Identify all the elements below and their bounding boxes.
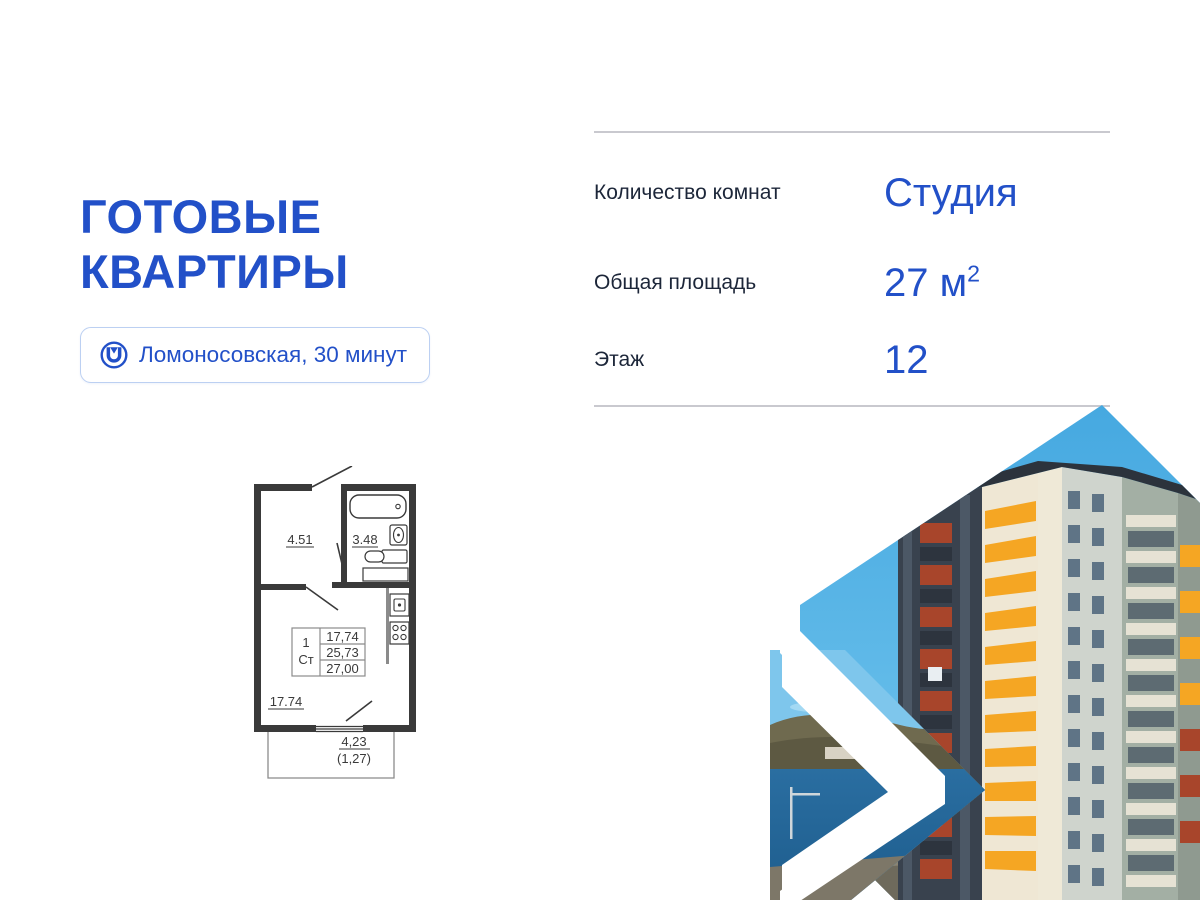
fp-legend-total-area: 27,00 [326,661,359,676]
metro-logo-icon [100,341,128,369]
spec-row-rooms: Количество комнат Студия [594,149,1110,237]
spec-value-rooms: Студия [884,173,1018,213]
metro-badge[interactable]: Ломоносовская, 30 минут [80,327,430,383]
headline-line-1: ГОТОВЫЕ [80,190,580,245]
spec-row-area: Общая площадь 27 м2 [594,237,1110,329]
fp-legend-rooms-count: 1 [302,635,309,650]
spec-value-area: 27 м2 [884,263,980,303]
metro-badge-label: Ломоносовская, 30 минут [139,342,407,368]
fp-balcony-area-counted: (1,27) [337,751,371,766]
fp-balcony-area: 4,23 [341,734,366,749]
fp-legend-type-abbr: Ст [298,652,313,667]
specs-table: Количество комнат Студия Общая площадь 2… [594,131,1110,407]
spec-value-rooms-text: Студия [884,171,1018,215]
building-photo[interactable] [770,395,1200,900]
page-title: ГОТОВЫЕ КВАРТИРЫ [80,190,580,300]
fp-legend-area-without-balcony: 25,73 [326,645,359,660]
spec-value-area-text: 27 м [884,261,967,305]
spec-value-floor: 12 [884,340,929,380]
fp-room-area: 17.74 [270,694,303,709]
fp-bathroom-area: 3.48 [352,532,377,547]
spec-label-area: Общая площадь [594,270,884,297]
headline-block: ГОТОВЫЕ КВАРТИРЫ Ломоносовская, 30 минут [80,190,580,383]
spec-label-floor: Этаж [594,347,884,374]
headline-line-2: КВАРТИРЫ [80,245,580,300]
spec-value-area-unit: 2 [967,261,980,287]
spec-row-floor: Этаж 12 [594,329,1110,391]
fp-hall-area: 4.51 [287,532,312,547]
spec-value-floor-text: 12 [884,338,929,382]
fp-legend-living-area: 17,74 [326,629,359,644]
spec-label-rooms: Количество комнат [594,180,884,207]
floor-plan[interactable]: 4.51 3.48 17.74 4,23 (1,27) 1 Ст 17,74 2… [246,466,446,786]
listing-card: ГОТОВЫЕ КВАРТИРЫ Ломоносовская, 30 минут [0,0,1200,900]
